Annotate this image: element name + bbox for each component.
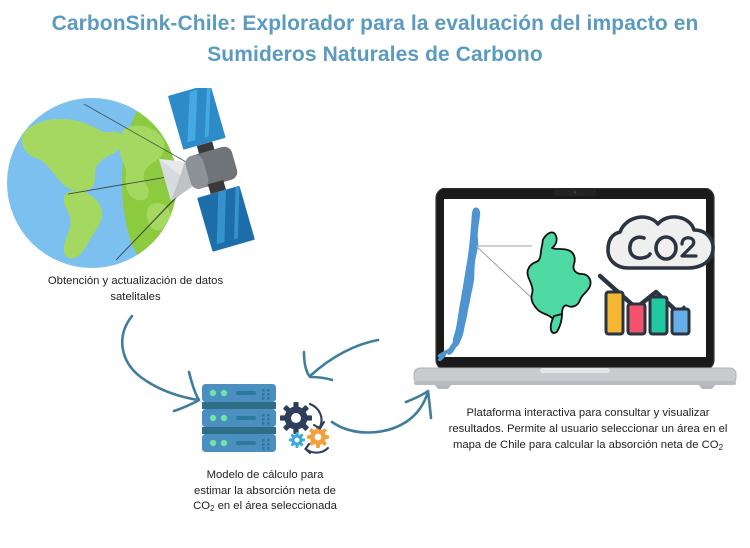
page-title: CarbonSink-Chile: Explorador para la eva…: [0, 8, 750, 70]
gears-icon: [280, 402, 329, 453]
earth-satellite-icon: [6, 88, 286, 278]
page-title-line1: CarbonSink-Chile: Explorador para la eva…: [52, 12, 699, 35]
model-node-caption: Modelo de cálculo para estimar la absorc…: [148, 468, 382, 515]
model-caption-line2: estimar la absorción neta de: [194, 485, 336, 497]
model-caption-line1: Modelo de cálculo para: [207, 469, 324, 481]
page-title-line2: Sumideros Naturales de Carbono: [0, 39, 750, 70]
satellite-caption-line2: satelitales: [110, 291, 160, 303]
infographic-canvas: CarbonSink-Chile: Explorador para la eva…: [0, 0, 750, 548]
bar-2: [628, 304, 645, 334]
bar-3: [650, 297, 667, 334]
model-caption-line3-sub: 2: [210, 504, 214, 513]
satellite-caption-line1: Obtención y actualización de datos: [48, 275, 223, 287]
laptop-base: [414, 368, 736, 389]
platform-caption-line1: Plataforma interactiva para consultar y …: [467, 407, 710, 419]
platform-node-caption: Plataforma interactiva para consultar y …: [432, 405, 744, 454]
platform-caption-line3-sub: 2: [719, 443, 723, 452]
platform-caption-line2: resultados. Permite al usuario seleccion…: [449, 423, 728, 435]
model-caption-line3-pre: CO: [193, 500, 210, 512]
satellite-node-caption: Obtención y actualización de datos satel…: [8, 274, 263, 305]
bar-1: [606, 292, 623, 334]
bar-4: [672, 309, 689, 334]
model-caption-line3-post: en el área seleccionada: [214, 500, 336, 512]
laptop-icon: [412, 188, 738, 394]
server-rack-icon: [202, 384, 276, 452]
server-gears-icon: [198, 382, 340, 464]
platform-caption-line3-pre: mapa de Chile para calcular la absorción…: [453, 439, 719, 451]
